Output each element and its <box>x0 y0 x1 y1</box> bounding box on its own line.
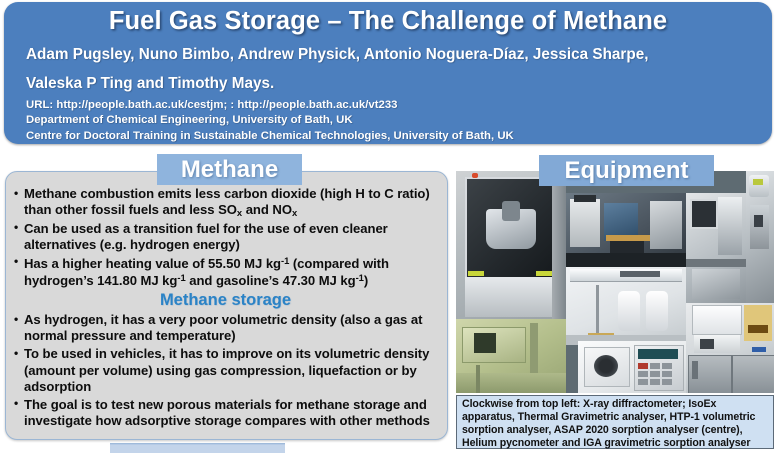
methane-section-header: Methane <box>157 154 302 185</box>
bullet-vehicles: To be used in vehicles, it has to improv… <box>13 346 438 395</box>
methane-bullet-list-bottom: As hydrogen, it has a very poor volumetr… <box>13 312 438 429</box>
photo-asap2020 <box>566 267 686 345</box>
author-list-line-1: Adam Pugsley, Nuno Bimbo, Andrew Physick… <box>4 36 772 65</box>
affiliation-block: URL: http://people.bath.ac.uk/cestjm; : … <box>4 95 772 145</box>
collage-grid <box>456 171 774 393</box>
photo-hiden-instrument <box>686 303 774 393</box>
bullet-heating-value: Has a higher heating value of 55.50 MJ k… <box>13 255 438 290</box>
equipment-photo-collage <box>456 171 774 393</box>
methane-section-content: Methane combustion emits less carbon dio… <box>5 186 448 441</box>
bullet-volumetric-density: As hydrogen, it has a very poor volumetr… <box>13 312 438 345</box>
bullet-goal: The goal is to test new porous materials… <box>13 397 438 430</box>
methane-storage-subheading: Methane storage <box>13 291 438 310</box>
photo-tga <box>686 193 746 303</box>
equipment-section-header-label: Equipment <box>565 159 689 183</box>
affiliation-department: Department of Chemical Engineering, Univ… <box>26 113 754 129</box>
equipment-section-header: Equipment <box>539 155 714 186</box>
photo-isoex-apparatus <box>566 193 686 267</box>
photo-xray-diffractometer <box>456 171 566 319</box>
methane-section-header-label: Methane <box>181 158 278 182</box>
author-list-line-2: Valeska P Ting and Timothy Mays. <box>4 65 772 94</box>
equipment-caption-box: Clockwise from top left: X-ray diffracto… <box>456 395 774 449</box>
photo-iga <box>456 319 566 393</box>
url-line: URL: http://people.bath.ac.uk/cestjm; : … <box>26 98 754 114</box>
bullet-transition-fuel: Can be used as a transition fuel for the… <box>13 221 438 254</box>
photo-htp1 <box>746 171 774 303</box>
page-title: Fuel Gas Storage – The Challenge of Meth… <box>4 2 772 36</box>
affiliation-centre: Centre for Doctoral Training in Sustaina… <box>26 129 754 145</box>
poster-header-banner: Fuel Gas Storage – The Challenge of Meth… <box>4 2 772 144</box>
next-section-header-sliver <box>110 444 285 453</box>
equipment-caption-text: Clockwise from top left: X-ray diffracto… <box>462 398 769 450</box>
photo-helium-pycnometer <box>578 341 686 393</box>
methane-bullet-list-top: Methane combustion emits less carbon dio… <box>13 186 438 289</box>
bullet-co2-emissions: Methane combustion emits less carbon dio… <box>13 186 438 219</box>
